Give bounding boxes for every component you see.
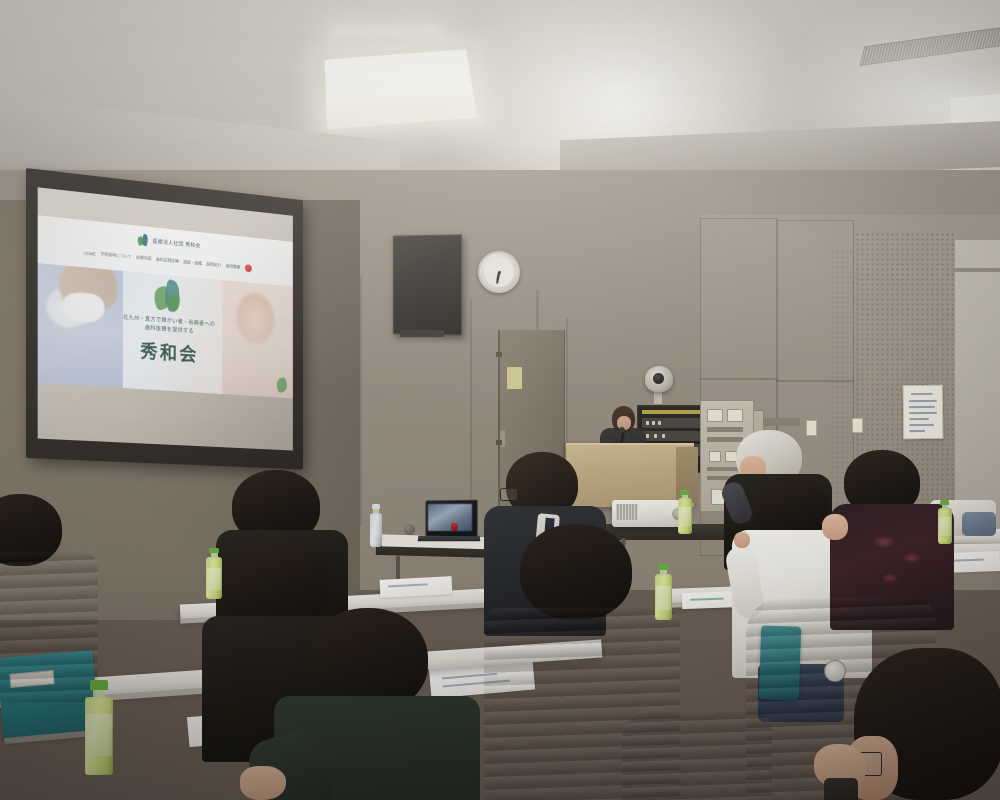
hero-title: 秀和会 — [140, 337, 198, 367]
printed-handout — [380, 576, 453, 598]
hero-center-content: 北九州・直方で障がい者・有病者への 歯科医療を提供する 秀和会 — [38, 263, 293, 398]
nav-item-home[interactable]: HOME — [84, 250, 96, 256]
hand — [734, 532, 750, 548]
nav-item-prevention[interactable]: 予防歯科について — [100, 251, 131, 260]
laser-pointer[interactable] — [451, 523, 458, 531]
clock-face — [484, 257, 514, 287]
slide-hero: 北九州・直方で障がい者・有病者への 歯科医療を提供する 秀和会 — [38, 263, 293, 398]
hero-leaf-logo-icon — [154, 279, 185, 314]
nav-item-about[interactable]: 医院紹介 — [206, 261, 221, 268]
ceiling-light-glow — [330, 24, 440, 40]
projection-screen-assembly: 医療法人社団 秀和会 HOME 予防歯科について 診療内容 歯科訪問診療 施設・… — [26, 168, 303, 470]
wall-clock — [478, 251, 520, 293]
hand — [822, 514, 848, 540]
wall-vent-slot — [764, 418, 800, 426]
nav-item-recruit[interactable]: 採用情報 — [226, 263, 241, 270]
garment-pattern — [864, 524, 934, 600]
wall-panel — [700, 218, 778, 380]
wall-label — [806, 420, 817, 436]
camera-lens-icon — [653, 373, 664, 384]
projector-vent — [616, 504, 638, 520]
nav-item-homevisit[interactable]: 歯科訪問診療 — [156, 257, 179, 265]
seminar-room-photo: 医療法人社団 秀和会 HOME 予防歯科について 診療内容 歯科訪問診療 施設・… — [0, 0, 1000, 800]
table-microphone[interactable] — [404, 524, 415, 535]
wall-panel — [776, 220, 854, 382]
hand — [240, 766, 286, 800]
jacket-badge-icon — [824, 660, 846, 682]
held-device — [824, 778, 858, 800]
nav-item-facilities[interactable]: 施設・設備 — [183, 259, 202, 267]
door-hinge — [496, 352, 502, 357]
speaker-bracket — [400, 330, 444, 337]
clock-center — [498, 271, 501, 274]
laptop-screen-content — [428, 504, 472, 531]
wall-mounted-loudspeaker — [393, 234, 462, 335]
camera-stalk — [654, 390, 662, 404]
microphone-head — [619, 427, 625, 433]
door-sign — [506, 366, 523, 390]
door-hinge — [496, 440, 502, 445]
wooden-lectern — [566, 443, 694, 507]
wall-label — [852, 418, 863, 433]
contact-badge-icon[interactable] — [245, 264, 252, 272]
bag — [962, 512, 996, 536]
company-logo-icon — [138, 233, 150, 247]
projected-slide: 医療法人社団 秀和会 HOME 予防歯科について 診療内容 歯科訪問診療 施設・… — [38, 215, 293, 398]
wall-trim — [952, 268, 1000, 272]
logo-text: 医療法人社団 秀和会 — [153, 237, 201, 250]
nav-item-services[interactable]: 診療内容 — [136, 255, 151, 262]
wall-notice — [903, 385, 944, 439]
wall-seam — [360, 276, 362, 526]
